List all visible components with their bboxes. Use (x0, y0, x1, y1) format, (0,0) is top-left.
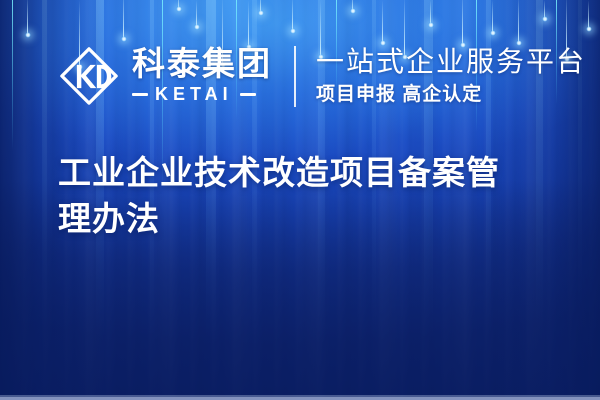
brand-name-en-row: KETAI (132, 84, 272, 105)
ketai-logo-icon (58, 45, 120, 107)
slogan-primary: 一站式企业服务平台 (316, 46, 586, 78)
brand-lockup: 科泰集团 KETAI (58, 45, 272, 107)
header-divider (294, 46, 296, 107)
slogan-secondary: 项目申报 高企认定 (316, 83, 586, 107)
brand-name-cn: 科泰集团 (132, 47, 272, 81)
dash-right-icon (240, 93, 256, 96)
banner-header: 科泰集团 KETAI 一站式企业服务平台 项目申报 高企认定 (58, 38, 586, 114)
dash-left-icon (132, 93, 148, 96)
brand-name-en: KETAI (155, 84, 233, 105)
slogan-block: 一站式企业服务平台 项目申报 高企认定 (316, 46, 586, 107)
brand-text: 科泰集团 KETAI (132, 47, 272, 105)
promo-banner: 科泰集团 KETAI 一站式企业服务平台 项目申报 高企认定 工业企业技术改造项… (0, 0, 600, 400)
page-title: 工业企业技术改造项目备案管理办法 (58, 150, 528, 242)
